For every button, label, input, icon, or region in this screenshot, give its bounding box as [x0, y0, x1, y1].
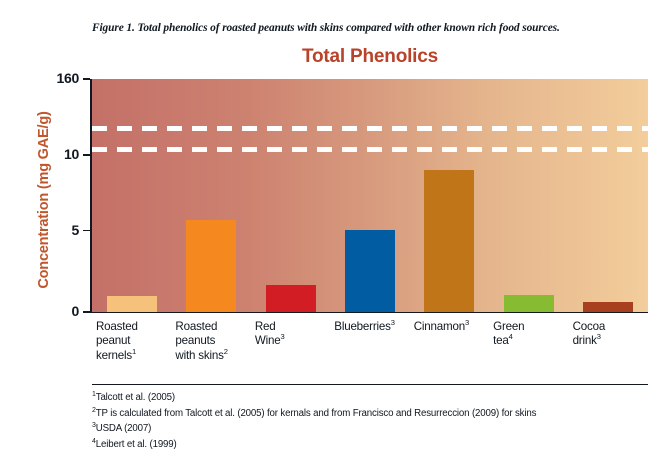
y-tick-mark — [83, 154, 90, 156]
axis-break-dashed-line — [92, 147, 648, 152]
y-tick-label: 160 — [19, 70, 79, 86]
y-tick-label: 5 — [19, 222, 79, 238]
bar — [186, 220, 236, 312]
y-tick-mark — [83, 230, 90, 232]
bar — [424, 170, 474, 312]
bar — [583, 302, 633, 312]
bar — [266, 285, 316, 312]
footnote-divider — [92, 384, 648, 385]
x-axis-label: Cocoadrink3 — [573, 320, 646, 349]
plot-area — [92, 79, 648, 312]
bar — [345, 230, 395, 312]
x-axis-label: Roastedpeanutkernels1 — [96, 320, 169, 363]
footnote: 2TP is calculated from Talcott et al. (2… — [92, 406, 662, 422]
figure-caption: Figure 1. Total phenolics of roasted pea… — [92, 22, 652, 34]
y-axis-title: Concentration (mg GAE/g) — [36, 70, 52, 330]
footnote-list: 1Talcott et al. (2005)2TP is calculated … — [92, 390, 662, 452]
footnote: 3USDA (2007) — [92, 421, 662, 437]
footnote: 4Leibert et al. (1999) — [92, 437, 662, 453]
axis-break-dashed-line — [92, 126, 648, 131]
footnote: 1Talcott et al. (2005) — [92, 390, 662, 406]
chart-title: Total Phenolics — [92, 46, 648, 68]
x-axis-label: Blueberries3 — [334, 320, 407, 334]
y-tick-label: 10 — [19, 146, 79, 162]
y-tick-label: 0 — [19, 303, 79, 319]
y-axis-line — [90, 79, 92, 313]
y-tick-mark — [83, 78, 90, 80]
y-tick-mark — [83, 311, 90, 313]
x-axis-label: RedWine3 — [255, 320, 328, 349]
bar — [107, 296, 157, 312]
figure-container: Figure 1. Total phenolics of roasted pea… — [0, 0, 671, 461]
x-axis-label: Cinnamon3 — [414, 320, 487, 334]
bar — [504, 295, 554, 312]
x-axis-label: Greentea4 — [493, 320, 566, 349]
x-axis-line — [90, 312, 648, 314]
x-axis-label: Roastedpeanutswith skins2 — [175, 320, 248, 363]
